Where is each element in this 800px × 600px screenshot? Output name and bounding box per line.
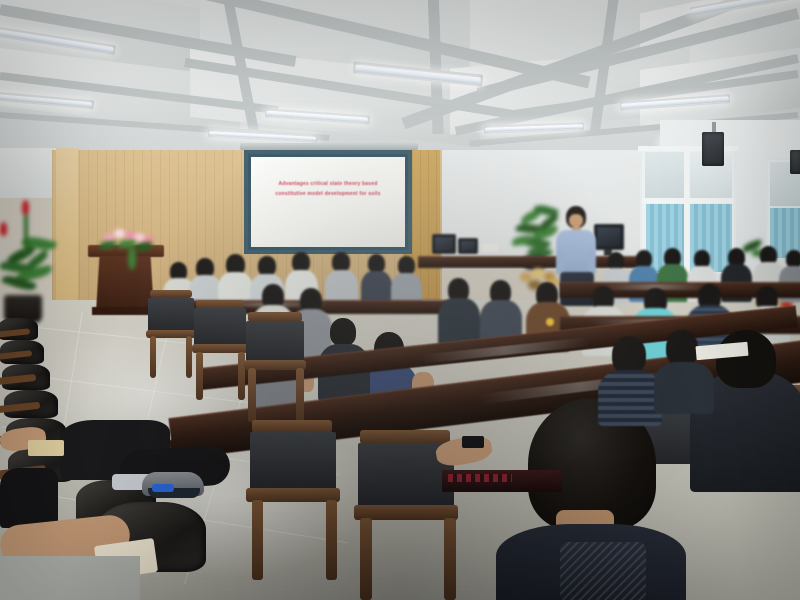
projection-screen-surface: Advantages critical state theory based c… (251, 157, 405, 247)
left-wall-white (0, 148, 60, 198)
wood-panel-strip (56, 148, 78, 318)
slide-line-1: Advantages critical state theory based (260, 180, 396, 190)
lecture-hall-photograph: Advantages critical state theory based c… (0, 0, 800, 600)
slide-text: Advantages critical state theory based c… (260, 180, 396, 199)
notebook (28, 440, 64, 456)
projection-screen: Advantages critical state theory based c… (244, 150, 412, 254)
yellow-name-badge (546, 318, 554, 326)
screen-roller (240, 143, 418, 150)
phone (462, 436, 484, 448)
slide-line-2: constitutive model development for soils (260, 190, 396, 200)
shirt-pattern (560, 542, 646, 600)
